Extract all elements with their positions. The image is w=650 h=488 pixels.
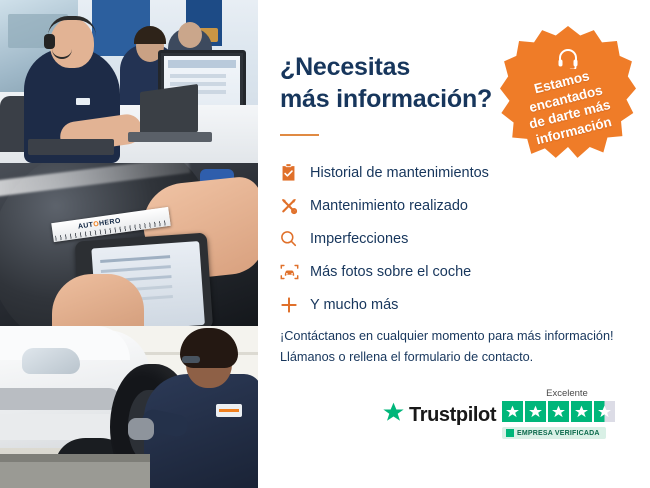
page-title: ¿Necesitas más información? (280, 52, 530, 115)
wrench-screwdriver-icon (280, 197, 310, 215)
contact-line-1: ¡Contáctanos en cualquier momento para m… (280, 326, 632, 347)
feature-item-much-more: Y mucho más (280, 288, 630, 321)
headset-icon (556, 47, 580, 69)
contact-text: ¡Contáctanos en cualquier momento para m… (280, 326, 632, 367)
star-filled (548, 401, 569, 422)
trustpilot-block: Trustpilot Excelente (382, 388, 632, 450)
check-icon (506, 429, 514, 437)
headline-line-1: ¿Necesitas (280, 53, 410, 81)
trustpilot-logo: Trustpilot (382, 402, 496, 429)
star-filled (571, 401, 592, 422)
inspection-ruler-photo: AUTOHERO (0, 163, 258, 326)
feature-label: Historial de mantenimientos (310, 165, 489, 181)
support-badge: Estamos encantados de darte más informac… (500, 26, 636, 162)
rating-label: Excelente (502, 388, 632, 399)
feature-label: Mantenimiento realizado (310, 198, 468, 214)
verified-company-badge: EMPRESA VERIFICADA (502, 427, 606, 439)
feature-label: Más fotos sobre el coche (310, 264, 471, 280)
magnifier-icon (280, 230, 310, 247)
car-focus-frame-icon (280, 263, 310, 281)
feature-item-maintenance-history: Historial de mantenimientos (280, 156, 630, 189)
feature-item-imperfections: Imperfecciones (280, 222, 630, 255)
feature-item-more-photos: Más fotos sobre el coche (280, 255, 630, 288)
feature-item-maintenance-done: Mantenimiento realizado (280, 189, 630, 222)
trustpilot-star-icon (382, 402, 405, 429)
call-center-agent-photo (0, 0, 258, 163)
trustpilot-wordmark: Trustpilot (409, 404, 496, 427)
headline-line-2: más información? (280, 85, 492, 113)
feature-list: Historial de mantenimientos Mantenimient… (280, 156, 630, 321)
clipboard-check-icon (280, 163, 310, 182)
mechanic-wheel-photo (0, 326, 258, 488)
title-divider (280, 134, 319, 136)
star-filled (502, 401, 523, 422)
verified-label: EMPRESA VERIFICADA (517, 430, 600, 437)
content-panel: ¿Necesitas más información? Estamos enca… (258, 0, 650, 488)
trustpilot-rating: Excelente (502, 388, 632, 442)
star-filled (525, 401, 546, 422)
feature-label: Imperfecciones (310, 231, 408, 247)
promo-card: AUTOHERO (0, 0, 650, 488)
star-half (594, 401, 615, 422)
rating-stars (502, 401, 632, 422)
feature-label: Y mucho más (310, 297, 398, 313)
plus-icon (280, 296, 310, 314)
contact-line-2: Llámanos o rellena el formulario de cont… (280, 347, 632, 368)
photo-column: AUTOHERO (0, 0, 258, 488)
